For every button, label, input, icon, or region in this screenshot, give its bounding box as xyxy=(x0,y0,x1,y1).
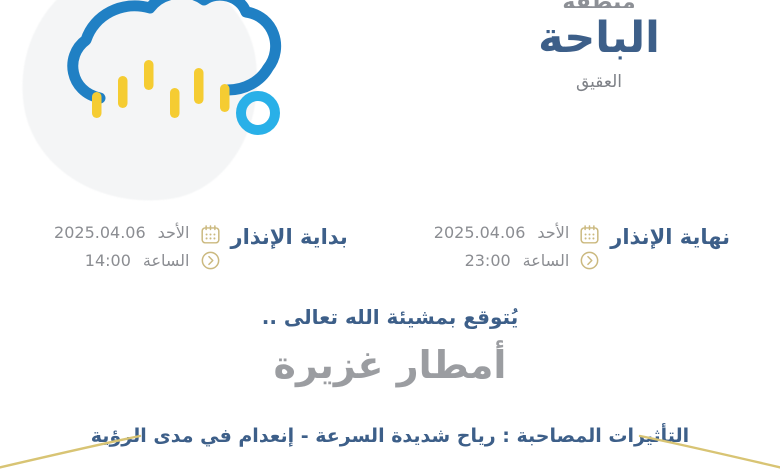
clock-icon xyxy=(200,250,221,271)
impacts-text: التأثيرات المصاحبة : رياح شديدة السرعة -… xyxy=(0,424,780,450)
forecast-lead: يُتوقع بمشيئة الله تعالى .. xyxy=(0,304,780,330)
heavy-rain-cloud-icon xyxy=(42,0,292,166)
alert-end-time-word: الساعة xyxy=(523,250,570,272)
alert-start-time-row: الساعة 14:00 xyxy=(54,250,189,272)
alert-start-label: بداية الإنذار xyxy=(231,222,348,250)
weather-alert-card: منطقة الباحة العقيق بداية الإنذار xyxy=(0,0,780,470)
alert-end-date: 2025.04.06 xyxy=(434,222,526,244)
forecast-headline: أمطار غزيرة xyxy=(0,342,780,390)
region-kicker: منطقة xyxy=(434,0,764,8)
alert-start-date-row: الأحد 2025.04.06 xyxy=(54,222,189,244)
region-header: منطقة الباحة العقيق xyxy=(434,0,764,91)
governorate-label: العقيق xyxy=(434,74,764,91)
alert-start-icons xyxy=(200,222,221,271)
alert-end-icons xyxy=(579,222,600,271)
alert-end-values: الأحد 2025.04.06 الساعة 23:00 xyxy=(434,222,569,272)
alert-end-date-row: الأحد 2025.04.06 xyxy=(434,222,569,244)
alert-start-group: بداية الإنذار xyxy=(54,222,348,272)
alert-start-time: 14:00 xyxy=(85,250,131,272)
alert-end-time: 23:00 xyxy=(465,250,511,272)
page-title: الباحة xyxy=(434,14,764,64)
calendar-icon xyxy=(579,224,600,245)
alert-end-time-row: الساعة 23:00 xyxy=(434,250,569,272)
alert-start-day: الأحد xyxy=(158,222,190,244)
calendar-icon xyxy=(200,224,221,245)
alert-start-time-word: الساعة xyxy=(143,250,190,272)
forecast-block: يُتوقع بمشيئة الله تعالى .. أمطار غزيرة xyxy=(0,304,780,390)
alert-end-group: نهاية الإنذار xyxy=(434,222,730,272)
alert-start-values: الأحد 2025.04.06 الساعة 14:00 xyxy=(54,222,189,272)
alert-end-day: الأحد xyxy=(537,222,569,244)
alert-window-strip: بداية الإنذار xyxy=(0,222,780,284)
alert-start-date: 2025.04.06 xyxy=(54,222,146,244)
alert-end-label: نهاية الإنذار xyxy=(610,222,730,250)
clock-icon xyxy=(579,250,600,271)
